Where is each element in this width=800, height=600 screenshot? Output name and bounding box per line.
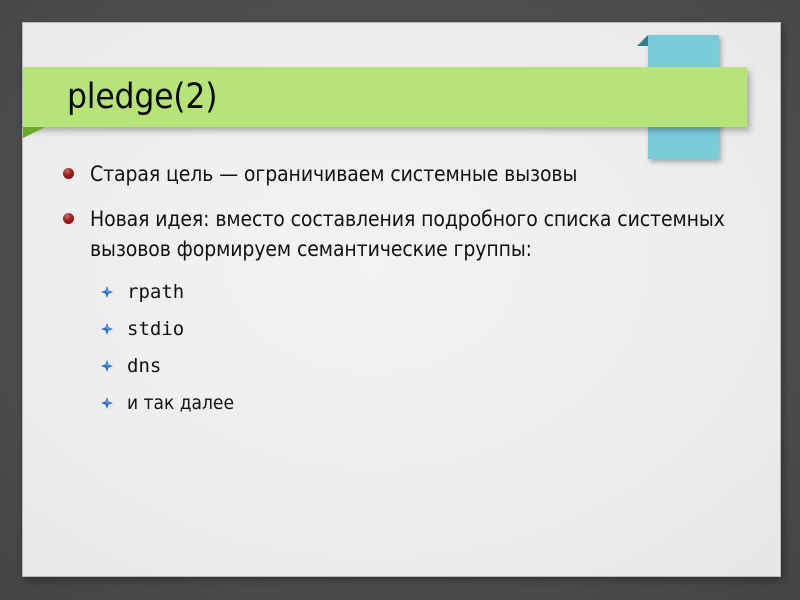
sub-list-item-label: dns xyxy=(127,353,161,379)
blue-diamond-bullet-icon xyxy=(101,286,113,298)
sub-list-item-label: stdio xyxy=(127,316,184,342)
sub-list-item-label: и так далее xyxy=(127,390,234,416)
list-item-label: Новая идея: вместо составления подробног… xyxy=(90,204,800,264)
blue-diamond-bullet-icon xyxy=(101,397,113,409)
list-item: Новая идея: вместо составления подробног… xyxy=(45,204,800,264)
red-sphere-bullet-icon xyxy=(63,168,74,179)
green-title-banner: pledge(2) xyxy=(23,67,747,127)
slide-panel: pledge(2) Старая цель — ограничиваем сис… xyxy=(22,22,781,577)
list-item: Старая цель — ограничиваем системные выз… xyxy=(45,159,800,189)
sub-list-item: dns xyxy=(101,353,800,379)
red-sphere-bullet-icon xyxy=(63,213,74,224)
green-banner-fold-icon xyxy=(23,127,45,138)
blue-diamond-bullet-icon xyxy=(101,323,113,335)
presentation-stage: pledge(2) Старая цель — ограничиваем сис… xyxy=(0,0,800,600)
list-item-label: Старая цель — ограничиваем системные выз… xyxy=(90,159,577,189)
sub-list: rpath stdio xyxy=(45,279,800,416)
sub-list-item: и так далее xyxy=(101,390,800,416)
sub-list-item-label: rpath xyxy=(127,279,184,305)
blue-diamond-bullet-icon xyxy=(101,360,113,372)
page-title: pledge(2) xyxy=(67,80,217,115)
slide-body: Старая цель — ограничиваем системные выз… xyxy=(45,159,800,427)
sub-list-item: rpath xyxy=(101,279,800,305)
blue-bar-fold-icon xyxy=(637,35,648,46)
sub-list-item: stdio xyxy=(101,316,800,342)
